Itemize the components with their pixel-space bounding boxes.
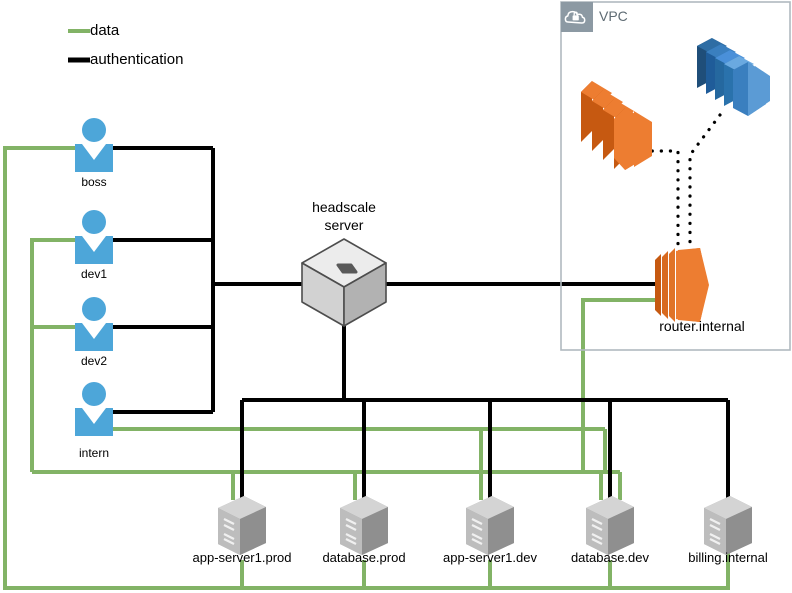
server-label-database-dev: database.dev bbox=[549, 551, 671, 566]
vpc-container bbox=[561, 2, 790, 350]
user-icon-intern[interactable] bbox=[75, 382, 113, 436]
server-label-app-server1-dev: app-server1.dev bbox=[423, 551, 557, 566]
aws-compute-stack-icon[interactable] bbox=[581, 81, 652, 170]
user-icon-dev2[interactable] bbox=[75, 297, 113, 351]
server-icon-database-prod[interactable] bbox=[340, 496, 388, 555]
server-icon-database-dev[interactable] bbox=[586, 496, 634, 555]
server-label-billing-internal: billing.internal bbox=[664, 551, 792, 566]
vpc-label: VPC bbox=[599, 8, 628, 24]
headscale-label-line1: headscale bbox=[294, 199, 394, 215]
diagram-canvas: data authentication boss dev1 dev2 inter… bbox=[0, 0, 792, 593]
router-label: router.internal bbox=[602, 318, 792, 334]
server-label-app-server1-prod: app-server1.prod bbox=[172, 551, 312, 566]
user-label-dev2: dev2 bbox=[44, 355, 144, 369]
server-label-database-prod: database.prod bbox=[299, 551, 429, 566]
legend-label-data: data bbox=[90, 22, 119, 39]
user-icon-dev1[interactable] bbox=[75, 210, 113, 264]
cube-icon[interactable] bbox=[302, 239, 386, 326]
legend-label-authentication: authentication bbox=[90, 51, 183, 68]
headscale-label-line2: server bbox=[294, 217, 394, 233]
aws-database-stack-icon[interactable] bbox=[697, 38, 770, 116]
aws-router-icon[interactable] bbox=[655, 248, 709, 322]
user-icon-boss[interactable] bbox=[75, 118, 113, 172]
user-label-boss: boss bbox=[44, 176, 144, 190]
server-icon-billing-internal[interactable] bbox=[704, 496, 752, 555]
user-label-intern: intern bbox=[44, 447, 144, 461]
server-icon-app-server1-prod[interactable] bbox=[218, 496, 266, 555]
server-icon-app-server1-dev[interactable] bbox=[466, 496, 514, 555]
user-label-dev1: dev1 bbox=[44, 268, 144, 282]
node-layer bbox=[0, 0, 792, 593]
